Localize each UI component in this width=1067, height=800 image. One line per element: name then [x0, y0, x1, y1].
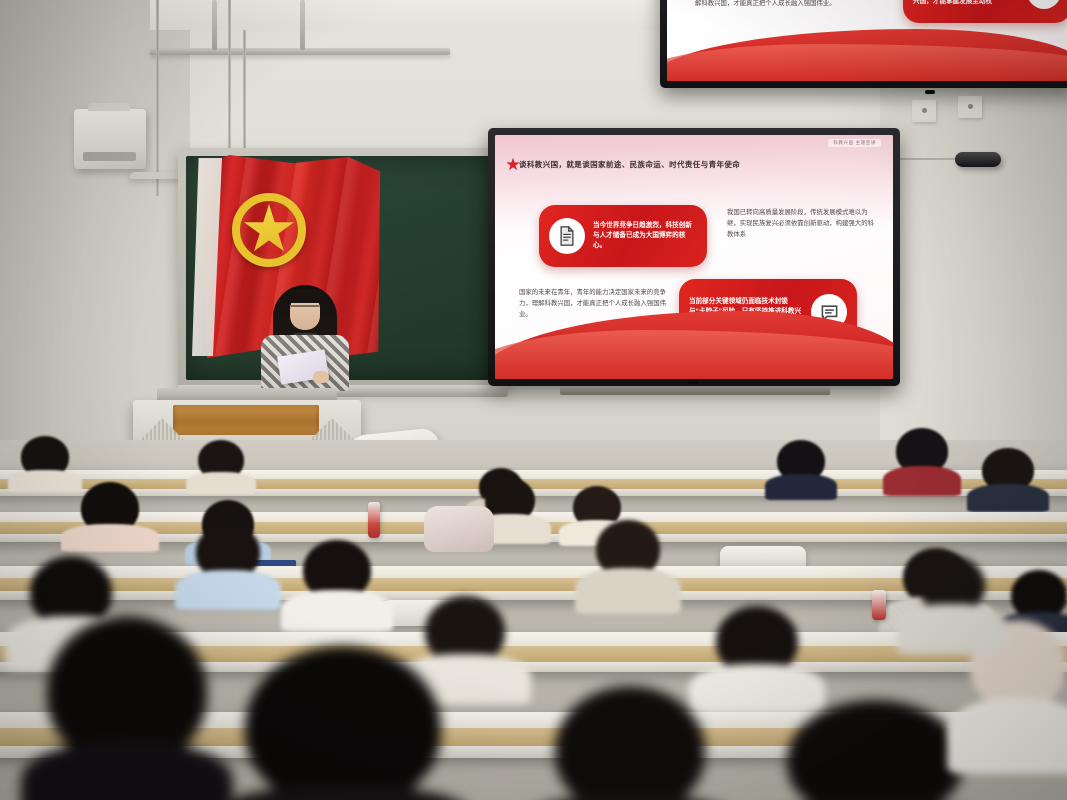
audience-person — [968, 448, 1048, 510]
main-display-indicator-icon — [688, 380, 698, 384]
audience-person — [62, 482, 158, 548]
hanging-rod-left — [156, 0, 159, 196]
ceiling-rod-b — [300, 0, 305, 50]
speaker-hand — [313, 371, 329, 383]
main-slide-wave — [495, 311, 893, 379]
upper-slide-card-4: 当前部分关键领域仍面临技术封锁与“卡脖子”风险，只有坚持推进科教兴国，才能掌握发… — [903, 0, 1067, 23]
audience-person — [576, 520, 680, 612]
audience-person — [176, 524, 280, 608]
slide-header: 谈科教兴国，就是谈国家前途、民族命运、时代责任与青年使命 — [513, 159, 740, 170]
slide-card-1: 当今世界竞争日趋激烈，科技创新与人才储备已成为大国博弈的核心。 — [539, 205, 707, 267]
backpack — [424, 506, 494, 552]
upper-slide-card-3: 国家的未来在青年，青年的能力决定国家未来的竞争力，理解科教兴国，才能真正把个人成… — [695, 0, 865, 9]
upper-slide-wave — [667, 29, 1067, 81]
lecture-hall-photo: 国家的未来在青年，青年的能力决定国家未来的竞争力，理解科教兴国，才能真正把个人成… — [0, 0, 1067, 800]
foreground-person — [22, 616, 232, 800]
speech-bubble-icon — [1027, 0, 1061, 9]
youth-league-star-emblem-icon — [232, 193, 306, 267]
audience-person — [282, 540, 392, 630]
upper-slide: 国家的未来在青年，青年的能力决定国家未来的竞争力，理解科教兴国，才能真正把个人成… — [667, 0, 1067, 81]
wall-projector-unit — [74, 109, 146, 169]
wall-unit-vent — [83, 152, 136, 161]
foreground-person — [218, 646, 468, 800]
ceiling-rod-a — [212, 0, 217, 50]
speaker-presenter — [259, 283, 351, 391]
main-display[interactable]: 科教兴国 主题宣讲 谈科教兴国，就是谈国家前途、民族命运、时代责任与青年使命 — [488, 128, 900, 386]
lectern-wood-inlay — [173, 405, 319, 435]
slide-card-2: 我国已转向高质量发展阶段，传统发展模式难以为继，实现民族复兴必须依靠创新驱动，构… — [727, 207, 877, 241]
wall-plate-a — [912, 100, 936, 122]
document-icon — [549, 218, 585, 254]
sensor-wire — [900, 158, 958, 160]
audience-person — [766, 440, 836, 498]
water-bottle — [872, 590, 886, 620]
foreground-person — [530, 686, 730, 800]
water-bottle — [368, 502, 380, 538]
speaker-fringe — [286, 289, 324, 303]
wall-plate-b — [958, 96, 982, 118]
audience-person — [884, 428, 960, 494]
upper-card-4-text: 当前部分关键领域仍面临技术封锁与“卡脖子”风险，只有坚持推进科教兴国，才能掌握发… — [913, 0, 1019, 7]
main-slide: 科教兴国 主题宣讲 谈科教兴国，就是谈国家前途、民族命运、时代责任与青年使命 — [495, 135, 893, 379]
audience-person — [186, 440, 256, 490]
main-display-surface: 科教兴国 主题宣讲 谈科教兴国，就是谈国家前途、民族命运、时代责任与青年使命 — [495, 135, 893, 379]
glasses-icon — [291, 305, 319, 313]
slide-card-1-text: 当今世界竞争日趋激烈，科技创新与人才储备已成为大国博弈的核心。 — [593, 221, 697, 252]
upper-display-surface: 国家的未来在青年，青年的能力决定国家未来的竞争力，理解科教兴国，才能真正把个人成… — [667, 0, 1067, 81]
ceiling-camera-icon — [955, 152, 1001, 167]
slide-corner-tag: 科教兴国 主题宣讲 — [828, 139, 881, 147]
display-mount-bar — [560, 386, 830, 395]
wall-unit-handle — [88, 103, 130, 111]
slide-header-text: 谈科教兴国，就是谈国家前途、民族命运、时代责任与青年使命 — [519, 159, 740, 170]
upper-display-camera-icon — [925, 90, 935, 94]
audience-person — [8, 436, 82, 488]
upper-display[interactable]: 国家的未来在青年，青年的能力决定国家未来的竞争力，理解科教兴国，才能真正把个人成… — [660, 0, 1067, 88]
audience-person — [898, 556, 1006, 652]
